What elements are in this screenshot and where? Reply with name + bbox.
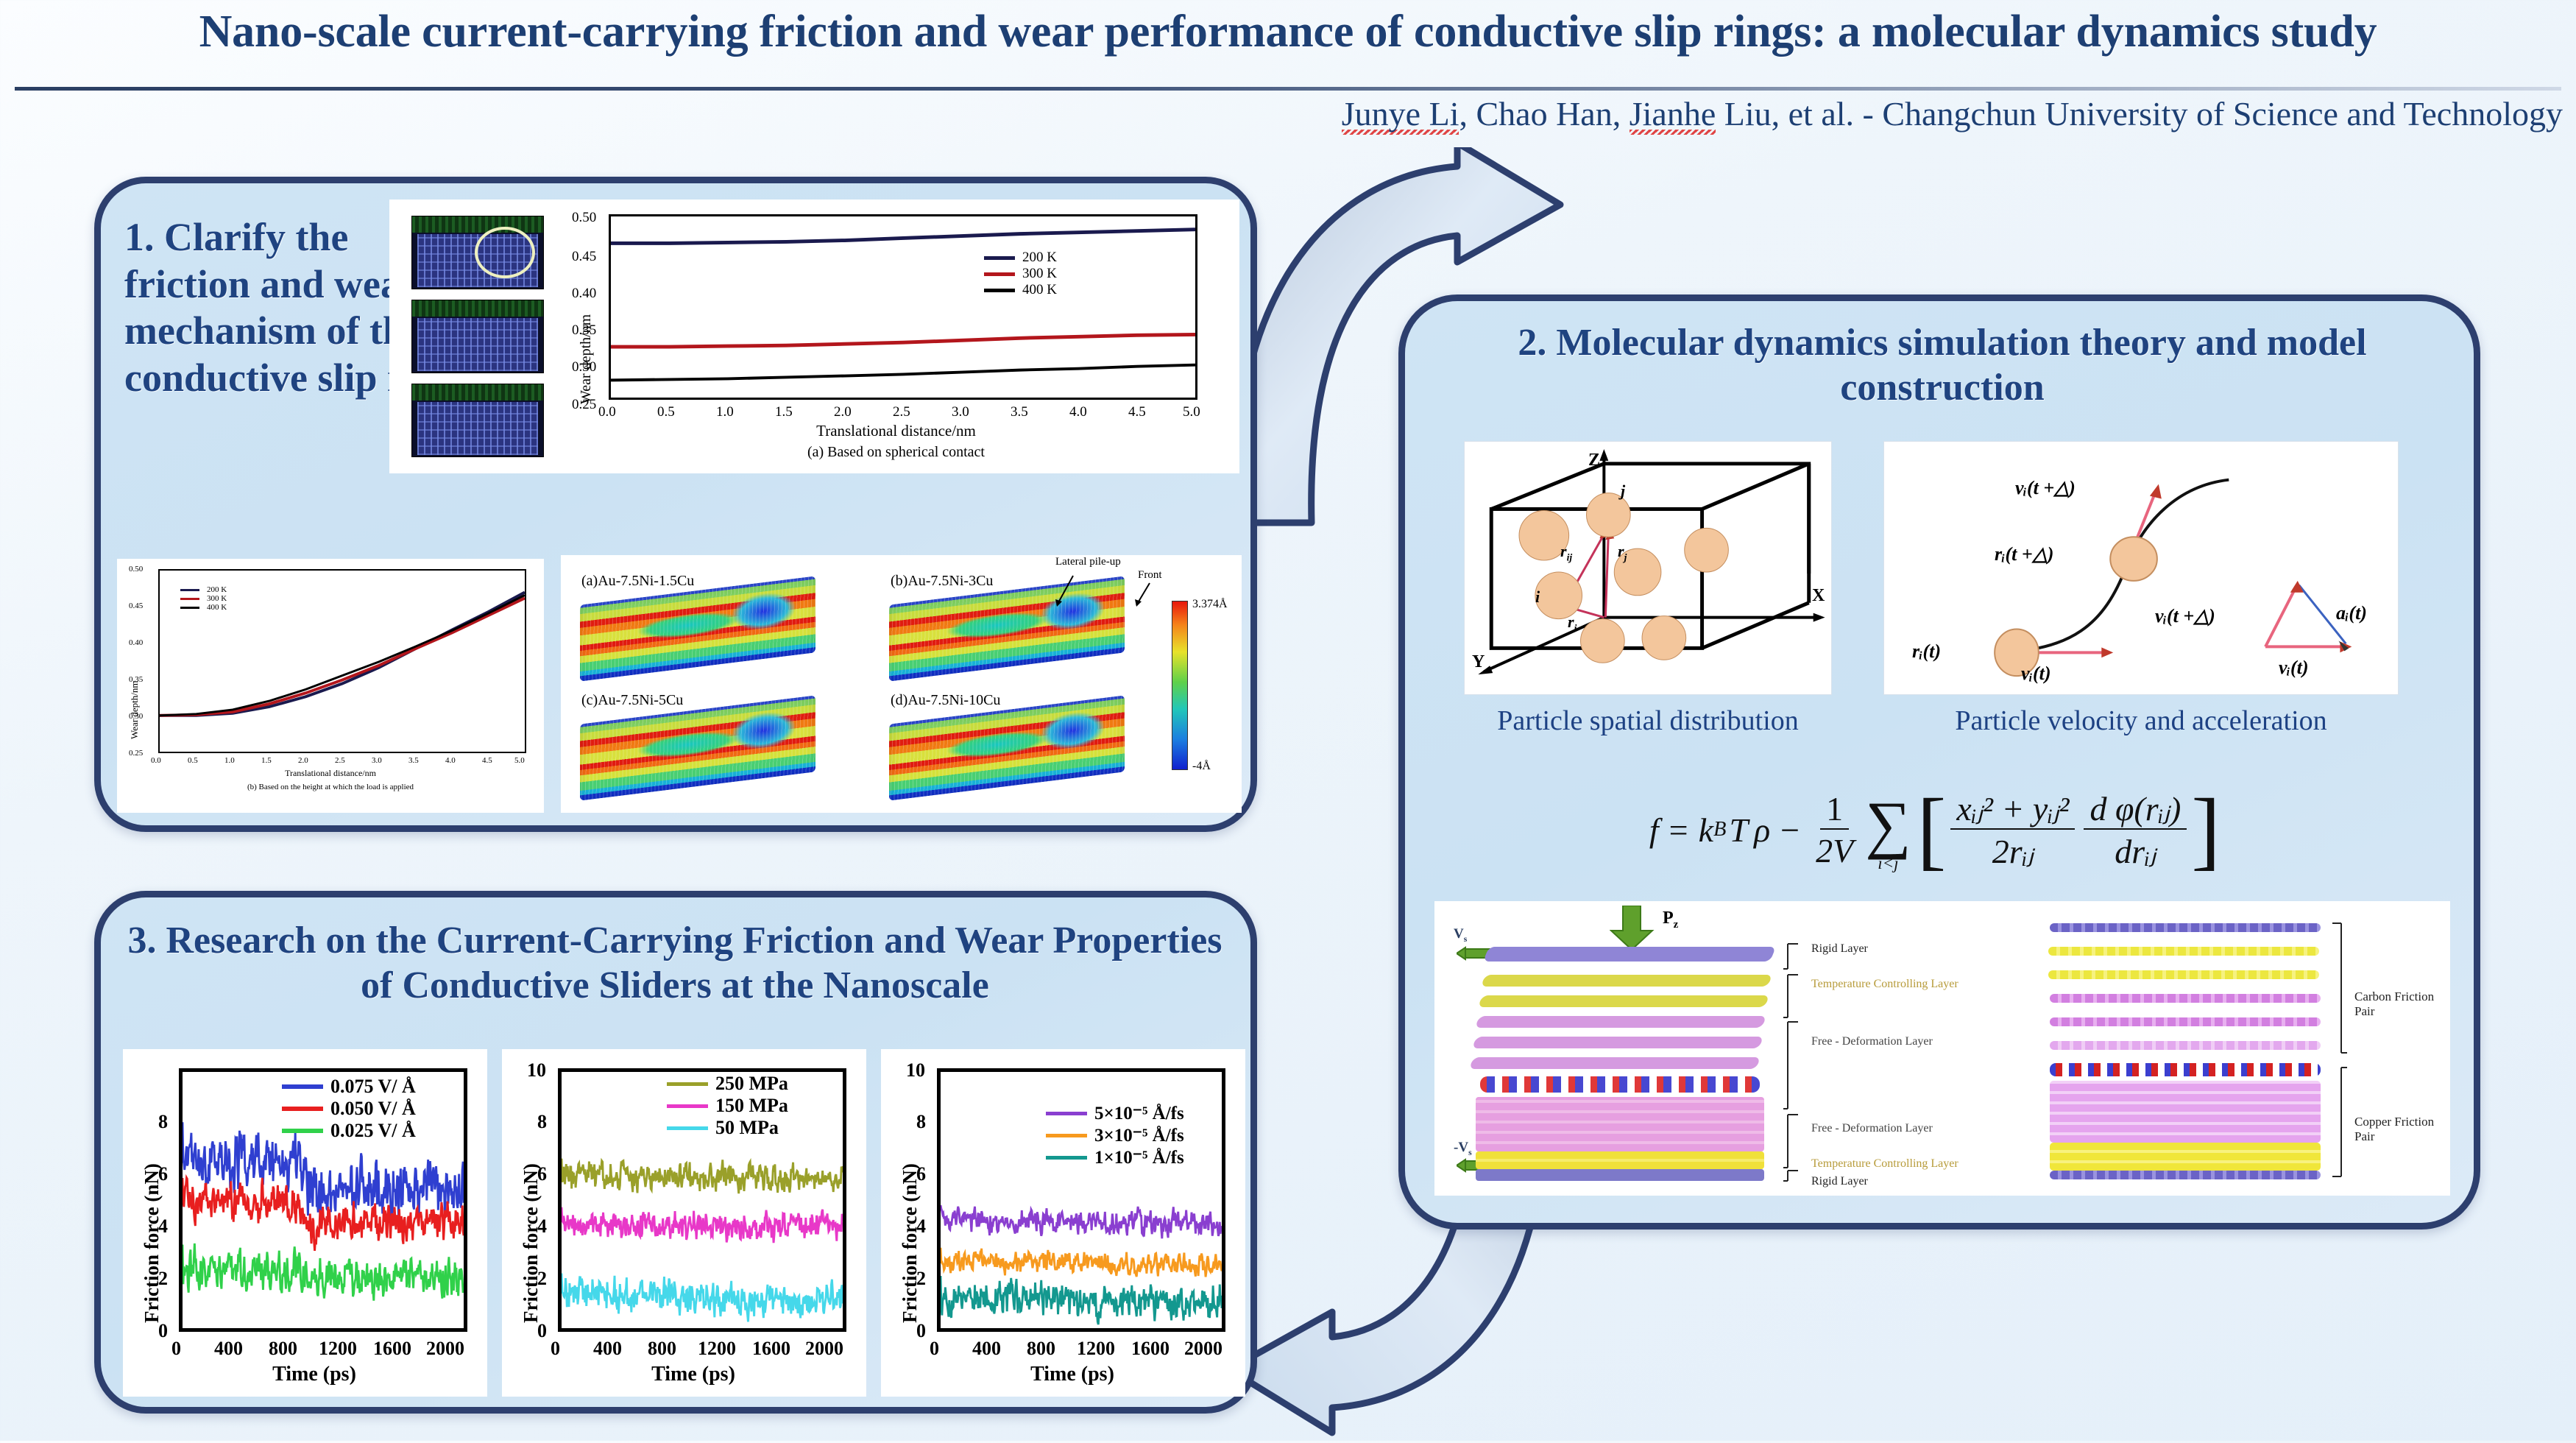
lattice-interface-debris xyxy=(2050,1063,2321,1076)
md-layer-label-4: Temperature Controlling Layer xyxy=(1811,1157,1958,1171)
chart-b-ytick-0: 0.25 xyxy=(129,749,143,758)
chart-c-xtick-5: 2000 xyxy=(426,1338,464,1360)
particle-velocity-acceleration-diagram: vᵢ(t +△) rᵢ(t +△) rᵢ(t) vᵢ(t) vᵢ(t +△) a… xyxy=(1883,441,2399,695)
chart-c-ytick-1: 2 xyxy=(158,1268,168,1290)
label-r-t: rᵢ(t) xyxy=(1912,641,1941,663)
chart-e-ylabel: Friction force (nN) xyxy=(899,1163,921,1323)
chart-c-xtick-3: 1200 xyxy=(319,1338,357,1360)
chart-c-ytick-0: 0 xyxy=(158,1320,168,1342)
sim-snapshot-2 xyxy=(411,300,544,373)
chart-a-xtick-0: 0.0 xyxy=(598,404,616,420)
panel-3-current-carrying-results: 3. Research on the Current-Carrying Fric… xyxy=(94,891,1257,1414)
eq-frac2-den: 2rᵢⱼ xyxy=(1986,830,2039,871)
colorbar-min-label: -4Å xyxy=(1192,760,1211,773)
md-sheet-free-top-1 xyxy=(1475,1016,1766,1028)
md-sheet-tcl-top-1 xyxy=(1481,975,1772,987)
chart-e-ytick-5: 10 xyxy=(906,1059,925,1082)
eq-sigma-sub: i<j xyxy=(1878,854,1898,873)
md-layer-label-3: Free - Deformation Layer xyxy=(1811,1122,1933,1135)
md-layered-model-figure: Pz Vs -Vs Rigid Layer xyxy=(1434,901,2450,1196)
chart-a-ytick-4: 0.45 xyxy=(572,249,596,265)
chart-a-ytick-2: 0.35 xyxy=(572,322,596,339)
eq-frac1-den: 2V xyxy=(1810,830,1859,870)
chart-e-xtick-3: 1200 xyxy=(1077,1338,1115,1360)
panel-2-heading: 2. Molecular dynamics simulation theory … xyxy=(1434,320,2450,411)
panel-1-clarify-mechanism: 1. Clarify the friction and wear mechani… xyxy=(94,177,1257,832)
chart-e-legend: 5×10⁻⁵ Å/fs 3×10⁻⁵ Å/fs 1×10⁻⁵ Å/fs xyxy=(1046,1102,1184,1168)
chart-d-xlabel: Time (ps) xyxy=(546,1363,841,1386)
chart-d-xtick-2: 800 xyxy=(648,1338,676,1360)
chart-card-friction-pressure: Friction force (nN) 0 2 4 6 8 10 0 400 8… xyxy=(502,1049,866,1397)
md-layer-label-2: Free - Deformation Layer xyxy=(1811,1035,1933,1048)
eq-rho: ρ xyxy=(1748,811,1770,850)
eq-equals: = xyxy=(1659,811,1699,850)
chart-a-legend-0: 200 K xyxy=(1022,250,1057,266)
md-right-bracket-group xyxy=(2329,920,2352,1178)
chart-d-ytick-4: 8 xyxy=(537,1111,547,1133)
lattice-row-3 xyxy=(2050,994,2321,1003)
chart-d-ytick-1: 2 xyxy=(537,1268,547,1290)
velocity-top-label: Vs xyxy=(1454,926,1467,945)
eq-frac3-num: d φ(rᵢⱼ) xyxy=(2084,788,2187,830)
panel-3-heading: 3. Research on the Current-Carrying Fric… xyxy=(127,918,1223,1009)
pair-label-copper: Copper Friction Pair xyxy=(2354,1115,2450,1144)
eq-frac2-num: xᵢⱼ² + yᵢⱼ² xyxy=(1950,788,2075,830)
chart-a-ytick-0: 0.25 xyxy=(572,397,596,413)
chart-c-xtick-1: 400 xyxy=(214,1338,243,1360)
affiliation-text: Liu, et al. - Changchun University of Sc… xyxy=(1716,95,2563,133)
chart-e-ytick-0: 0 xyxy=(916,1320,926,1342)
chart-d-legend-1: 150 MPa xyxy=(715,1095,788,1117)
chart-e-legend-0: 5×10⁻⁵ Å/fs xyxy=(1094,1102,1184,1124)
eq-bracket-open: [ xyxy=(1917,797,1947,863)
chart-a-xtick-3: 1.5 xyxy=(775,404,793,420)
pair-label-carbon: Carbon Friction Pair xyxy=(2354,989,2450,1019)
particle-spatial-distribution-diagram: Z X Y j i rij rj ri xyxy=(1464,441,1832,695)
eq-kb-sub: B xyxy=(1713,818,1726,842)
chart-c-ylabel: Friction force (nN) xyxy=(141,1163,163,1323)
chart-d-legend: 250 MPa 150 MPa 50 MPa xyxy=(667,1073,788,1139)
eq-T: T xyxy=(1726,811,1748,850)
chart-a-legend-2: 400 K xyxy=(1022,282,1057,298)
chart-a-xlabel: Translational distance/nm xyxy=(563,422,1229,440)
chart-d-xtick-0: 0 xyxy=(551,1338,560,1360)
poster-header: Nano-scale current-carrying friction and… xyxy=(0,0,2576,155)
chart-friction-vs-velocity: Friction force (nN) 0 2 4 6 8 10 0 400 8… xyxy=(881,1049,1245,1397)
md-sheet-free-top-3 xyxy=(1469,1057,1761,1069)
vector-label-rij: rij xyxy=(1560,542,1572,563)
title-divider xyxy=(15,87,2561,91)
panel-1-wearmap-card: (a)Au-7.5Ni-1.5Cu (b)Au-7.5Ni-3Cu (c)Au-… xyxy=(561,555,1242,813)
chart-d-ytick-0: 0 xyxy=(537,1320,547,1342)
author-affiliation-line: Junye Li, Chao Han, Jianhe Liu, et al. -… xyxy=(16,94,2563,133)
chart-b-xtick-0: 0.0 xyxy=(151,756,161,765)
lattice-row-0 xyxy=(2050,923,2321,932)
author-names-2: , Chao Han, xyxy=(1459,95,1629,133)
chart-b-xtick-4: 2.0 xyxy=(298,756,308,765)
panel-1-top-card: Wear depth/nm 0.25 0.30 0.35 0.40 0.45 0… xyxy=(389,200,1239,473)
axis-label-x: X xyxy=(1812,586,1825,606)
chart-e-ytick-1: 2 xyxy=(916,1268,926,1290)
annotation-lateral-pileup: Lateral pile-up xyxy=(1055,557,1121,568)
chart-a-xtick-7: 3.5 xyxy=(1011,404,1028,420)
eq-sigma: ∑ xyxy=(1865,787,1911,861)
sim-snapshot-3 xyxy=(411,384,544,457)
chart-e-ytick-3: 6 xyxy=(916,1163,926,1185)
chart-e-xlabel: Time (ps) xyxy=(925,1363,1220,1386)
chart-c-xtick-0: 0 xyxy=(171,1338,181,1360)
panel-2-md-theory: 2. Molecular dynamics simulation theory … xyxy=(1398,294,2480,1229)
wearmap-label-c: (c)Au-7.5Ni-5Cu xyxy=(581,692,683,709)
lattice-row-4 xyxy=(2050,1017,2321,1026)
chart-d-legend-0: 250 MPa xyxy=(715,1073,788,1095)
particle-label-i: i xyxy=(1535,588,1540,607)
chart-b-caption: (b) Based on the height at which the loa… xyxy=(117,783,544,791)
lattice-tcl-block xyxy=(2050,1143,2321,1171)
chart-a-xtick-5: 2.5 xyxy=(893,404,910,420)
author-name-1: Junye Li xyxy=(1342,95,1459,135)
load-arrow-icon xyxy=(1610,906,1657,951)
chart-b-xtick-2: 1.0 xyxy=(224,756,235,765)
chart-b-xtick-7: 3.5 xyxy=(408,756,419,765)
chart-b-legend-2: 400 K xyxy=(207,603,227,612)
author-name-3: Jianhe xyxy=(1630,95,1716,135)
chart-wear-depth-load-height: Wear depth/nm 0.25 0.30 0.35 0.40 0.45 0… xyxy=(117,559,544,813)
lattice-row-1 xyxy=(2048,947,2319,956)
velocity-bottom-label: -Vs xyxy=(1454,1140,1472,1158)
chart-d-ytick-3: 6 xyxy=(537,1163,547,1185)
md-sheet-tcl-top-2 xyxy=(1478,995,1769,1007)
chart-b-ytick-3: 0.40 xyxy=(129,638,143,647)
chart-wear-depth-spherical: Wear depth/nm 0.25 0.30 0.35 0.40 0.45 0… xyxy=(563,207,1229,469)
chart-b-xtick-9: 4.5 xyxy=(482,756,492,765)
vector-label-ri: ri xyxy=(1568,613,1577,634)
chart-c-legend: 0.075 V/ Å 0.050 V/ Å 0.025 V/ Å xyxy=(282,1076,416,1142)
chart-a-legend-1: 300 K xyxy=(1022,266,1057,282)
eq-bracket-close: ] xyxy=(2191,797,2221,863)
chart-c-ytick-2: 4 xyxy=(158,1216,168,1238)
md-sheet-rigid-top xyxy=(1483,947,1776,962)
lattice-row-5 xyxy=(2050,1041,2321,1050)
eq-minus: − xyxy=(1770,811,1810,850)
chart-e-legend-1: 3×10⁻⁵ Å/fs xyxy=(1094,1124,1184,1146)
wearmap-image-a xyxy=(580,576,815,681)
wearmap-label-a: (a)Au-7.5Ni-1.5Cu xyxy=(581,573,694,590)
chart-b-xtick-6: 3.0 xyxy=(372,756,382,765)
eq-frac3-den: drᵢⱼ xyxy=(2109,830,2162,871)
chart-b-ylabel: Wear depth/nm xyxy=(129,681,141,739)
chart-c-ytick-4: 8 xyxy=(158,1111,168,1133)
eq-lhs: f xyxy=(1649,811,1659,850)
md-atomic-lattice xyxy=(2045,923,2325,1174)
md-equation: f = kB T ρ − 12V ∑ i<j [ xᵢⱼ² + yᵢⱼ²2rᵢⱼ… xyxy=(1457,771,2413,889)
sim-snapshot-1 xyxy=(411,216,544,289)
chart-b-ytick-1: 0.30 xyxy=(129,712,143,721)
chart-c-ytick-3: 6 xyxy=(158,1163,168,1185)
chart-b-ytick-4: 0.45 xyxy=(129,601,143,610)
colorbar-max-label: 3.374Å xyxy=(1192,598,1228,611)
chart-b-xlabel: Translational distance/nm xyxy=(117,768,544,779)
chart-a-ytick-5: 0.50 xyxy=(572,210,596,226)
chart-a-ytick-1: 0.30 xyxy=(572,359,596,375)
chart-a-xtick-8: 4.0 xyxy=(1069,404,1087,420)
chart-b-xtick-10: 5.0 xyxy=(514,756,525,765)
chart-e-xtick-0: 0 xyxy=(930,1338,939,1360)
lattice-copper-block xyxy=(2050,1081,2321,1143)
chart-a-xtick-4: 2.0 xyxy=(834,404,852,420)
panel-1-chart-b-card: Wear depth/nm 0.25 0.30 0.35 0.40 0.45 0… xyxy=(117,559,544,813)
chart-b-xtick-1: 0.5 xyxy=(188,756,198,765)
eq-frac1-num: 1 xyxy=(1820,789,1849,830)
chart-b-xtick-5: 2.5 xyxy=(335,756,345,765)
chart-e-xtick-5: 2000 xyxy=(1184,1338,1222,1360)
chart-a-xtick-10: 5.0 xyxy=(1183,404,1200,420)
md-block-free-bottom xyxy=(1476,1097,1764,1151)
wearmap-label-b: (b)Au-7.5Ni-3Cu xyxy=(891,573,993,590)
chart-a-xtick-9: 4.5 xyxy=(1128,404,1146,420)
lattice-row-2 xyxy=(2048,970,2319,979)
label-v-t: vᵢ(t) xyxy=(2021,663,2051,685)
md-layer-label-0: Rigid Layer xyxy=(1811,942,1868,956)
wearmap-label-d: (d)Au-7.5Ni-10Cu xyxy=(891,692,1000,709)
chart-a-ytick-3: 0.40 xyxy=(572,286,596,302)
page-title: Nano-scale current-carrying friction and… xyxy=(0,6,2576,58)
label-v-t-2: vᵢ(t) xyxy=(2279,657,2309,679)
chart-c-legend-2: 0.025 V/ Å xyxy=(330,1120,416,1142)
md-interface-debris xyxy=(1480,1076,1760,1093)
chart-d-legend-2: 50 MPa xyxy=(715,1117,779,1139)
chart-c-legend-0: 0.075 V/ Å xyxy=(330,1076,416,1098)
chart-e-legend-2: 1×10⁻⁵ Å/fs xyxy=(1094,1146,1184,1168)
label-v-t-plus-delta-2: vᵢ(t +△) xyxy=(2155,605,2215,627)
md-layer-label-1: Temperature Controlling Layer xyxy=(1811,978,1958,991)
chart-c-xtick-4: 1600 xyxy=(373,1338,411,1360)
label-a-t: aᵢ(t) xyxy=(2336,602,2367,624)
chart-d-ylabel: Friction force (nN) xyxy=(520,1163,542,1323)
chart-d-ytick-2: 4 xyxy=(537,1216,547,1238)
chart-d-xtick-1: 400 xyxy=(593,1338,622,1360)
chart-friction-vs-voltage: Friction force (nN) 0 2 4 6 8 0 400 800 … xyxy=(123,1049,487,1397)
chart-d-ytick-5: 10 xyxy=(527,1059,546,1082)
chart-card-friction-voltage: Friction force (nN) 0 2 4 6 8 0 400 800 … xyxy=(123,1049,487,1397)
md-block-rigid-bottom xyxy=(1476,1169,1764,1181)
axis-label-z: Z xyxy=(1588,451,1600,470)
lattice-row-rigid-bottom xyxy=(2050,1171,2321,1179)
chart-a-xtick-6: 3.0 xyxy=(952,404,969,420)
md-block-tcl-bottom xyxy=(1476,1151,1764,1169)
wearmap-image-c xyxy=(580,695,815,800)
vector-label-rj: rj xyxy=(1618,542,1627,563)
chart-b-legend-0: 200 K xyxy=(207,585,227,594)
chart-a-caption: (a) Based on spherical contact xyxy=(563,444,1229,461)
chart-e-ytick-4: 8 xyxy=(916,1111,926,1133)
chart-b-legend: 200 K 300 K 400 K xyxy=(180,585,227,612)
chart-friction-vs-pressure: Friction force (nN) 0 2 4 6 8 10 0 400 8… xyxy=(502,1049,866,1397)
chart-d-xtick-4: 1600 xyxy=(752,1338,790,1360)
chart-e-xtick-4: 1600 xyxy=(1131,1338,1170,1360)
chart-c-legend-1: 0.050 V/ Å xyxy=(330,1098,416,1120)
eq-kb: k xyxy=(1699,811,1713,850)
md-left-bracket-group xyxy=(1780,941,1807,1188)
label-v-t-plus-delta: vᵢ(t +△) xyxy=(2015,477,2076,499)
caption-particle-velocity-acceleration: Particle velocity and acceleration xyxy=(1883,705,2399,737)
chart-e-ytick-2: 4 xyxy=(916,1216,926,1238)
chart-b-ytick-2: 0.35 xyxy=(129,675,143,684)
wearmap-colorbar xyxy=(1172,601,1188,770)
label-r-t-plus-delta: rᵢ(t +△) xyxy=(1995,543,2053,565)
chart-d-xtick-3: 1200 xyxy=(698,1338,736,1360)
wearmap-image-d xyxy=(889,695,1125,800)
chart-e-xtick-2: 800 xyxy=(1027,1338,1055,1360)
chart-b-legend-1: 300 K xyxy=(207,594,227,603)
md-layer-label-5: Rigid Layer xyxy=(1811,1175,1868,1188)
axis-label-y: Y xyxy=(1472,652,1485,672)
caption-particle-spatial-distribution: Particle spatial distribution xyxy=(1464,705,1832,737)
chart-b-xtick-8: 4.0 xyxy=(445,756,456,765)
chart-a-legend: 200 K 300 K 400 K xyxy=(984,250,1057,298)
chart-card-friction-velocity: Friction force (nN) 0 2 4 6 8 10 0 400 8… xyxy=(881,1049,1245,1397)
chart-c-xlabel: Time (ps) xyxy=(167,1363,461,1386)
annotation-leader-lines xyxy=(1047,571,1179,614)
chart-b-xtick-3: 1.5 xyxy=(261,756,272,765)
chart-e-xtick-1: 400 xyxy=(972,1338,1001,1360)
chart-d-xtick-5: 2000 xyxy=(805,1338,843,1360)
chart-a-xtick-2: 1.0 xyxy=(716,404,734,420)
md-sheet-free-top-2 xyxy=(1472,1037,1763,1048)
chart-a-xtick-1: 0.5 xyxy=(657,404,675,420)
chart-b-ytick-5: 0.50 xyxy=(129,565,143,574)
load-label: Pz xyxy=(1663,909,1678,931)
chart-c-xtick-2: 800 xyxy=(269,1338,297,1360)
particle-label-j: j xyxy=(1621,481,1625,501)
chart-a-plot-area xyxy=(609,214,1197,400)
